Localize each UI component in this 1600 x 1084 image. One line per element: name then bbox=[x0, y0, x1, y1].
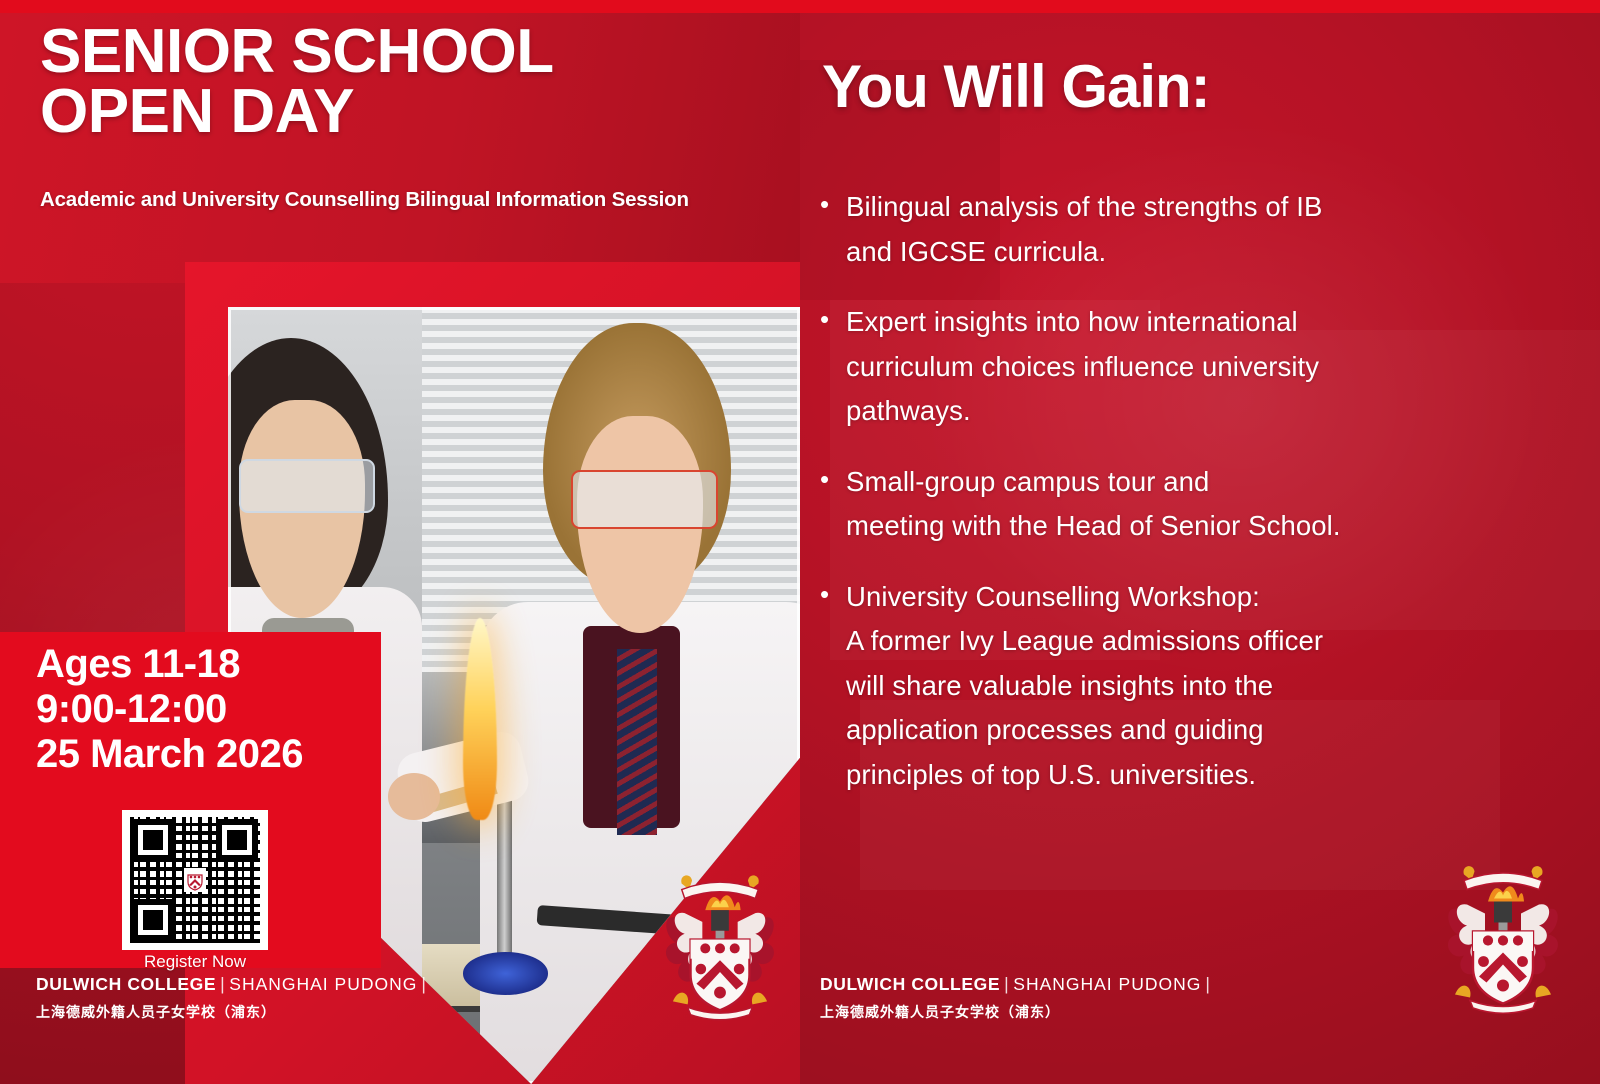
qr-finder-bottom-left bbox=[132, 899, 174, 941]
event-date: 25 March 2026 bbox=[36, 732, 381, 777]
left-footer-lockup: DULWICH COLLEGE|SHANGHAI PUDONG| 上海德威外籍人… bbox=[36, 974, 431, 1022]
left-lockup-line: DULWICH COLLEGE|SHANGHAI PUDONG| bbox=[36, 974, 431, 995]
right-lockup-separator: | bbox=[1000, 974, 1013, 994]
list-item-text: Bilingual analysis of the strengths of I… bbox=[846, 185, 1322, 274]
list-item: • Bilingual analysis of the strengths of… bbox=[820, 185, 1520, 274]
benefits-list: • Bilingual analysis of the strengths of… bbox=[820, 185, 1520, 824]
left-lockup-separator: | bbox=[216, 974, 229, 994]
safety-goggles-icon bbox=[571, 470, 718, 528]
bullet-dot-icon: • bbox=[820, 185, 846, 274]
list-item-text: University Counselling Workshop: A forme… bbox=[846, 575, 1323, 798]
qr-finder-top-left bbox=[132, 819, 174, 861]
dulwich-crest-icon bbox=[1428, 856, 1578, 1016]
right-lockup-school: DULWICH COLLEGE bbox=[820, 974, 1000, 994]
dulwich-crest-icon bbox=[646, 866, 794, 1022]
qr-code[interactable] bbox=[122, 810, 268, 950]
event-time: 9:00-12:00 bbox=[36, 687, 381, 732]
right-footer-lockup: DULWICH COLLEGE|SHANGHAI PUDONG| 上海德威外籍人… bbox=[820, 974, 1215, 1022]
right-lockup-chinese: 上海德威外籍人员子女学校（浦东） bbox=[820, 1002, 1215, 1022]
bullet-dot-icon: • bbox=[820, 300, 846, 434]
right-heading: You Will Gain: bbox=[822, 52, 1562, 121]
event-ages: Ages 11-18 bbox=[36, 632, 381, 687]
bunsen-burner-base bbox=[463, 952, 549, 995]
student-boy-tie bbox=[617, 649, 657, 835]
list-item: • University Counselling Workshop: A for… bbox=[820, 575, 1520, 798]
list-item: • Expert insights into how international… bbox=[820, 300, 1520, 434]
left-lockup-trailing: | bbox=[417, 974, 430, 994]
safety-goggles-icon bbox=[239, 459, 375, 514]
page-subtitle: Academic and University Counselling Bili… bbox=[40, 188, 780, 212]
right-lockup-trailing: | bbox=[1201, 974, 1214, 994]
list-item-text: Expert insights into how international c… bbox=[846, 300, 1319, 434]
bunsen-burner-stem bbox=[497, 797, 512, 960]
right-lockup-line: DULWICH COLLEGE|SHANGHAI PUDONG| bbox=[820, 974, 1215, 995]
student-boy-hand bbox=[388, 773, 439, 820]
list-item-text: Small-group campus tour and meeting with… bbox=[846, 460, 1341, 549]
qr-finder-top-right bbox=[216, 819, 258, 861]
top-accent-strip bbox=[0, 0, 1600, 13]
poster-root: SENIOR SCHOOL OPEN DAY Academic and Univ… bbox=[0, 0, 1600, 1084]
left-lockup-chinese: 上海德威外籍人员子女学校（浦东） bbox=[36, 1002, 431, 1022]
right-panel: You Will Gain: • Bilingual analysis of t… bbox=[800, 0, 1600, 1084]
bullet-dot-icon: • bbox=[820, 460, 846, 549]
register-now-label[interactable]: Register Now bbox=[122, 952, 268, 972]
qr-code-image[interactable] bbox=[130, 817, 260, 943]
page-title: SENIOR SCHOOL OPEN DAY bbox=[40, 22, 760, 141]
left-lockup-city: SHANGHAI PUDONG bbox=[229, 974, 417, 994]
list-item: • Small-group campus tour and meeting wi… bbox=[820, 460, 1520, 549]
qr-center-logo bbox=[184, 868, 206, 892]
left-panel: SENIOR SCHOOL OPEN DAY Academic and Univ… bbox=[0, 0, 800, 1084]
event-details-box: Ages 11-18 9:00-12:00 25 March 2026 bbox=[0, 632, 381, 787]
right-lockup-city: SHANGHAI PUDONG bbox=[1013, 974, 1201, 994]
left-lockup-school: DULWICH COLLEGE bbox=[36, 974, 216, 994]
bullet-dot-icon: • bbox=[820, 575, 846, 798]
